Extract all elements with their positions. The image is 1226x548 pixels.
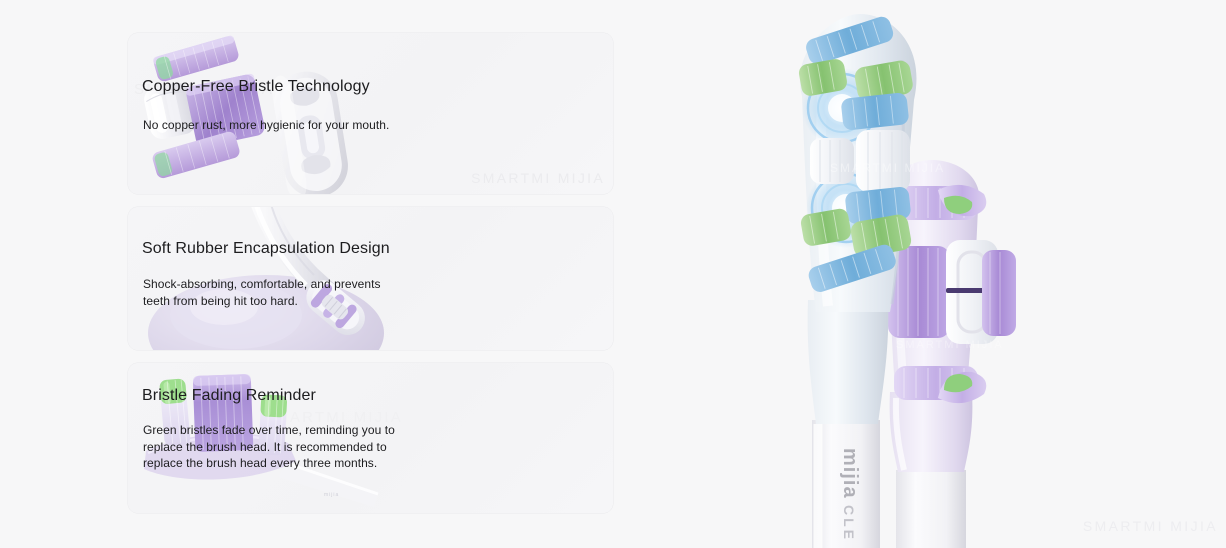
watermark: SMARTMI MIJIA [1083,518,1218,534]
feature-panel-list: SMARTMI MIJIA SMARTMI MIJIA [128,33,613,513]
feature-title: Soft Rubber Encapsulation Design [142,240,613,258]
feature-title: Copper-Free Bristle Technology [142,78,613,96]
feature-title: Bristle Fading Reminder [142,387,613,405]
feature-panel-fading-reminder[interactable]: SMARTMI MIJIA m [128,363,613,513]
feature-description: Green bristles fade over time, reminding… [143,422,613,472]
feature-panel-soft-rubber[interactable]: Soft Rubber Encapsulation Design Shock-a… [128,207,613,350]
svg-text:mijia: mijia [324,492,339,498]
brand-logo-mijia: mijia [838,448,861,499]
hero-illustration: SMARTMI MIJIA [720,0,1226,548]
brand-logo-clean: CLE [841,505,857,542]
watermark: SMARTMI MIJIA [471,170,605,186]
purple-brush-head: SMARTMI MIJIA [887,160,1016,548]
svg-text:SMARTMI MIJIA: SMARTMI MIJIA [830,161,945,175]
svg-text:SMARTMI MIJIA: SMARTMI MIJIA [896,339,1004,351]
hero-product-image: SMARTMI MIJIA [720,0,1226,548]
feature-panel-copper-free[interactable]: SMARTMI MIJIA SMARTMI MIJIA [128,33,613,194]
feature-description: Shock-absorbing, comfortable, and preven… [143,276,613,309]
feature-description: No copper rust, more hygienic for your m… [143,117,613,134]
